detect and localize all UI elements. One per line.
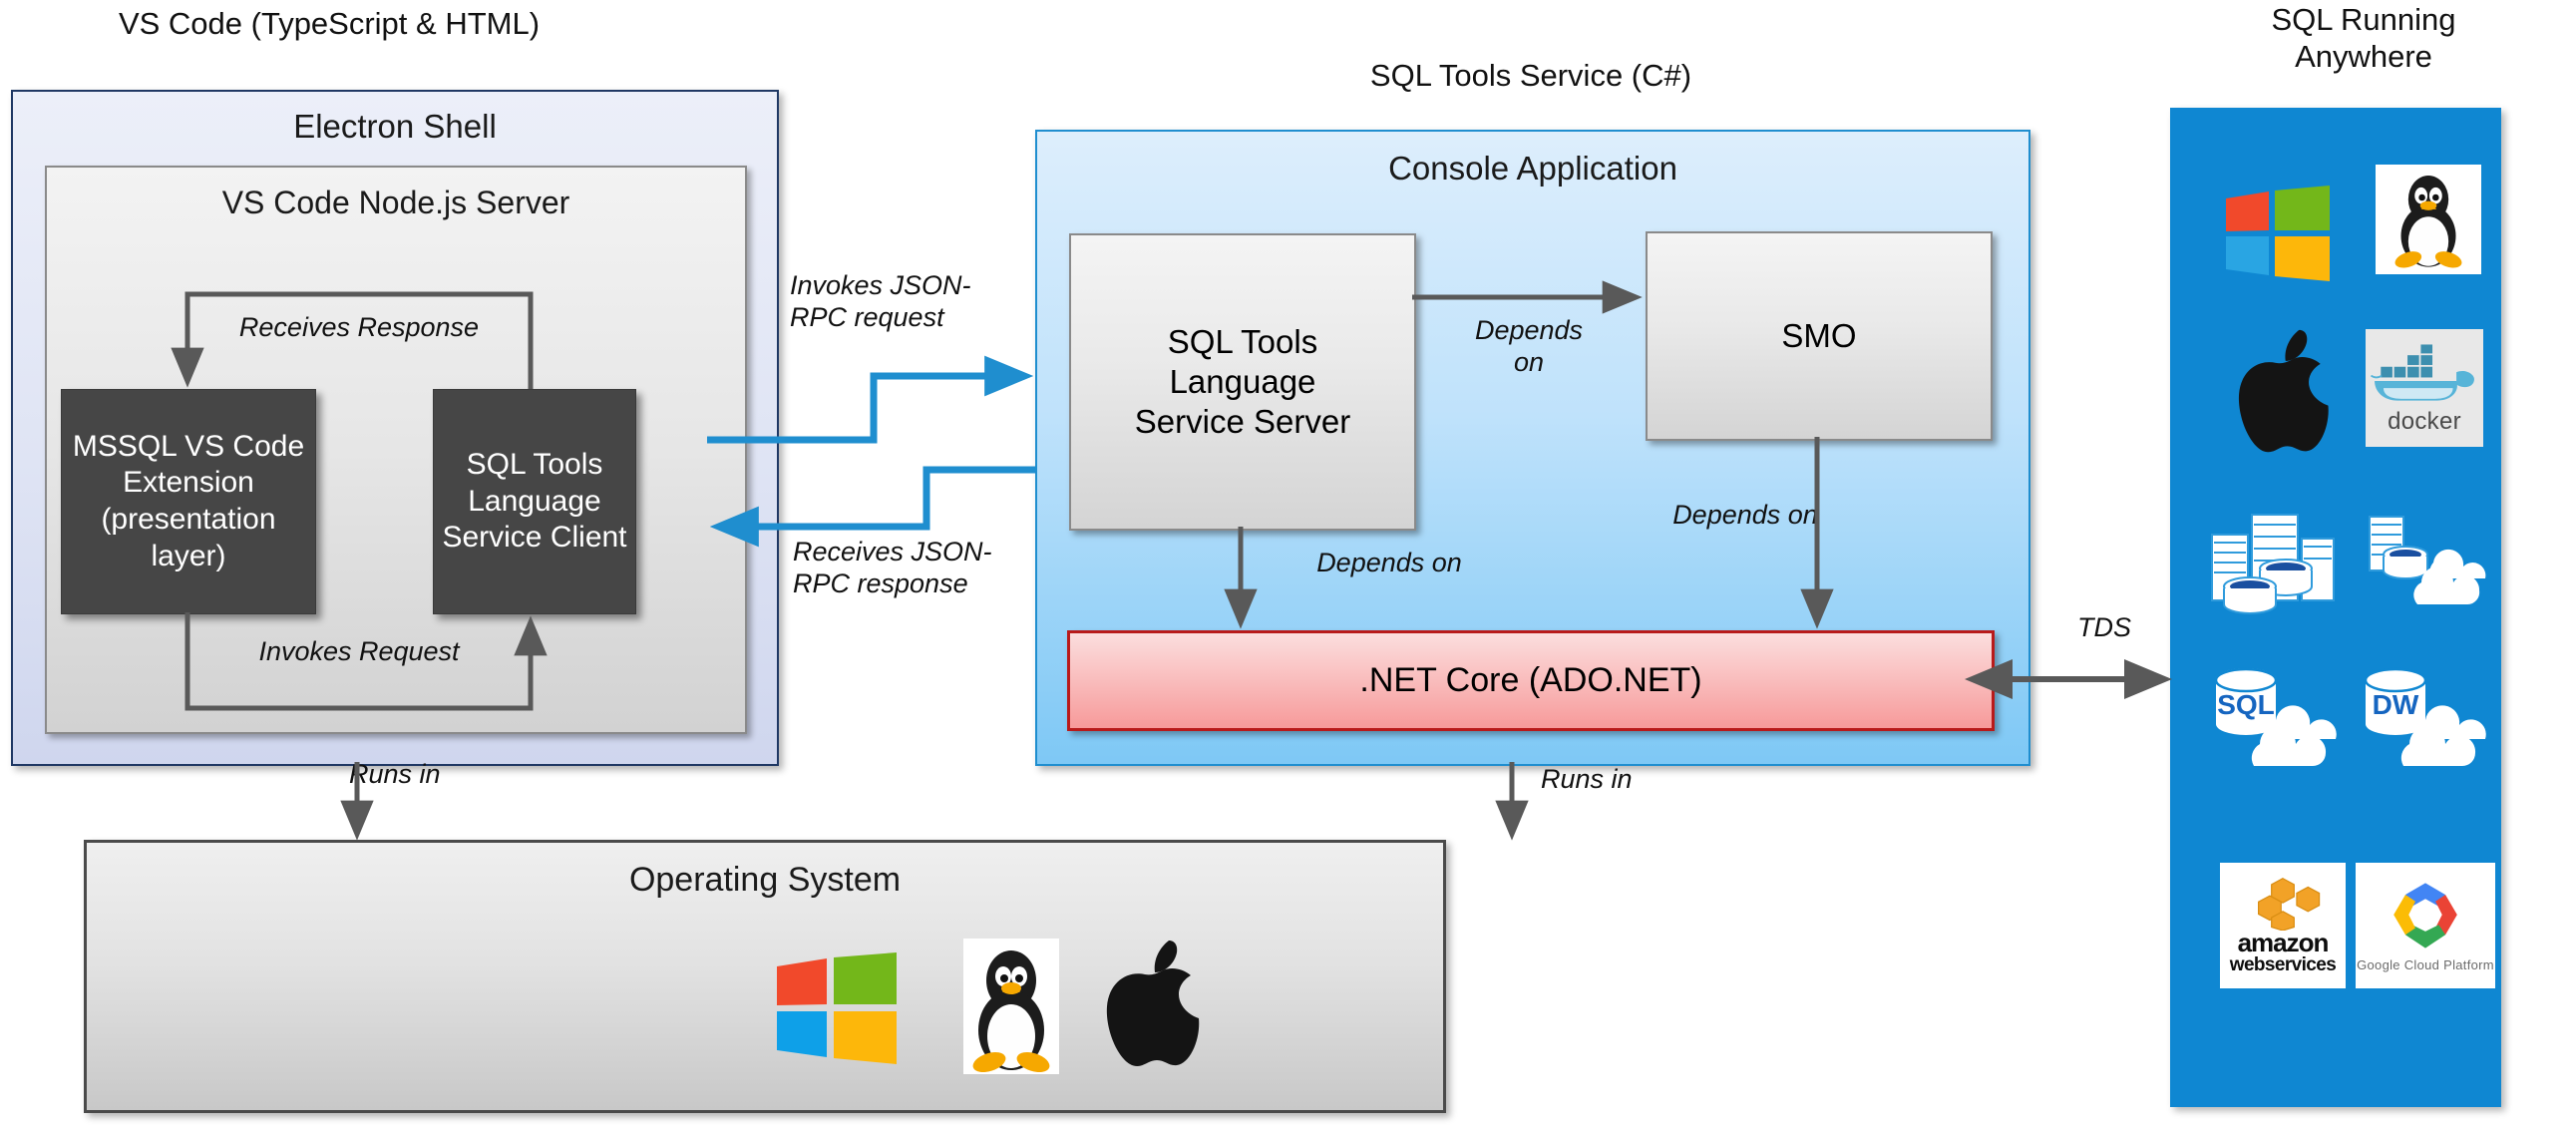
azure-sql-database-icon: SQL — [2202, 658, 2342, 768]
electron-shell-title: Electron Shell — [13, 108, 777, 146]
right-section-caption: SQL Running Anywhere — [2154, 2, 2573, 75]
mssql-extension-label: MSSQL VS Code Extension (presentation la… — [62, 390, 315, 613]
depends-on-smo-label: Depends on — [1434, 314, 1624, 379]
dotnet-core-box[interactable]: .NET Core (ADO.NET) — [1067, 630, 1995, 731]
gcp-wordmark: Google Cloud Platform — [2357, 957, 2494, 972]
windows-logo — [777, 952, 897, 1064]
left-section-caption: VS Code (TypeScript & HTML) — [20, 6, 638, 43]
aws-wordmark-line1: amazon — [2238, 931, 2329, 955]
linux-tux-logo — [963, 939, 1059, 1074]
mid-section-caption: SQL Tools Service (C#) — [997, 58, 2064, 95]
invokes-json-rpc-request-label: Invokes JSON- RPC request — [790, 269, 1029, 334]
docker-logo: docker — [2366, 329, 2483, 447]
sql-tools-language-service-client-label: SQL Tools Language Service Client — [434, 390, 635, 613]
docker-wordmark: docker — [2388, 408, 2461, 436]
azure-sql-dw-label: DW — [2373, 689, 2419, 720]
sql-tools-language-service-server-label: SQL Tools Language Service Server — [1071, 235, 1414, 529]
cloud-linux-tux-logo — [2376, 165, 2481, 274]
mssql-extension-box[interactable]: MSSQL VS Code Extension (presentation la… — [61, 389, 316, 614]
tds-label: TDS — [2049, 611, 2159, 643]
receives-response-label: Receives Response — [214, 311, 504, 343]
invokes-request-label: Invokes Request — [214, 635, 504, 667]
runs-in-mid-label: Runs in — [1541, 763, 1690, 795]
azure-sql-database-label: SQL — [2217, 689, 2275, 720]
receives-json-rpc-response-label: Receives JSON- RPC response — [793, 536, 1032, 600]
apple-logo — [1087, 933, 1203, 1072]
aws-wordmark-line2: webservices — [2230, 955, 2336, 974]
operating-system-panel: Operating System — [84, 840, 1446, 1113]
smo-label: SMO — [1648, 233, 1991, 439]
depends-on-adonet-from-server-label: Depends on — [1265, 547, 1514, 578]
google-cloud-platform-logo: Google Cloud Platform — [2356, 863, 2495, 988]
operating-system-title: Operating System — [87, 861, 1443, 900]
sql-server-on-prem-icon — [2206, 509, 2342, 616]
sql-managed-instance-cloud-icon — [2362, 511, 2491, 612]
sql-tools-language-service-server-box[interactable]: SQL Tools Language Service Server — [1069, 233, 1416, 531]
runs-in-left-label: Runs in — [349, 758, 499, 790]
smo-box[interactable]: SMO — [1646, 231, 1993, 441]
sql-tools-language-service-client-box[interactable]: SQL Tools Language Service Client — [433, 389, 636, 614]
depends-on-adonet-from-smo-label: Depends on — [1621, 499, 1870, 531]
azure-sql-data-warehouse-icon: DW — [2352, 658, 2493, 768]
console-application-title: Console Application — [1037, 150, 2028, 188]
vscode-node-server-title: VS Code Node.js Server — [47, 185, 745, 221]
dotnet-core-label: .NET Core (ADO.NET) — [1070, 633, 1992, 728]
cloud-windows-logo — [2226, 186, 2330, 281]
amazon-web-services-logo: amazon webservices — [2220, 863, 2346, 988]
cloud-apple-logo — [2218, 324, 2334, 460]
